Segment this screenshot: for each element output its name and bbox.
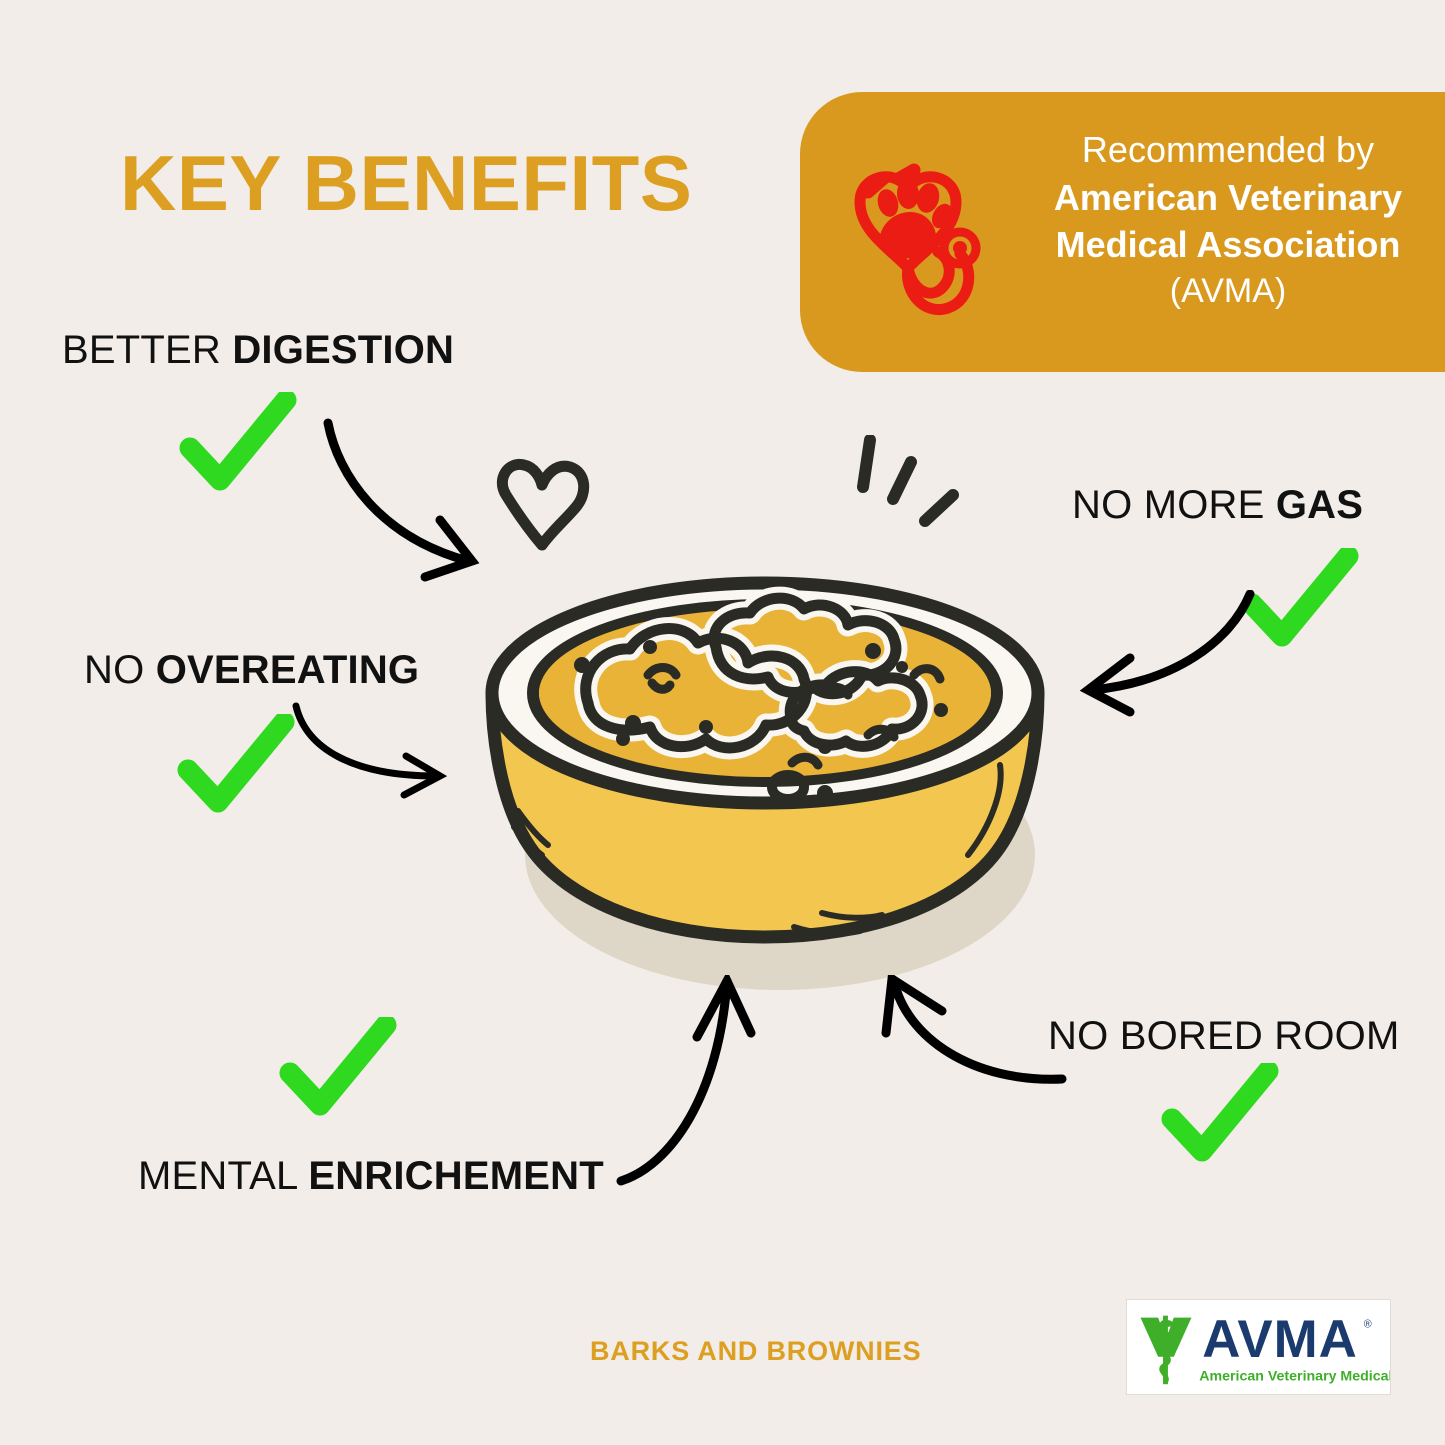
checkmark-icon-bored-room xyxy=(1160,1063,1280,1163)
page-title: KEY BENEFITS xyxy=(120,144,692,222)
benefit-label-enrichment-light: MENTAL xyxy=(138,1154,308,1198)
svg-text:AVMA: AVMA xyxy=(1202,1310,1358,1369)
benefit-label-overeating: NO OVEREATING xyxy=(84,648,419,693)
benefit-label-gas-light: NO MORE xyxy=(1072,483,1276,527)
avma-recommendation-badge: Recommended by American Veterinary Medic… xyxy=(800,92,1445,372)
sparkle-lines xyxy=(863,440,953,521)
checkmark-icon-overeating xyxy=(176,714,296,814)
badge-line-org-2: Medical Association xyxy=(1038,221,1418,269)
benefit-label-bored-room: NO BORED ROOM xyxy=(1048,1014,1400,1059)
benefit-label-digestion-bold: DIGESTION xyxy=(232,328,454,372)
infographic-canvas: KEY BENEFITS xyxy=(0,0,1445,1445)
benefit-label-digestion: BETTER DIGESTION xyxy=(62,328,454,373)
svg-text:®: ® xyxy=(1364,1318,1372,1330)
benefit-label-overeating-bold: OVEREATING xyxy=(156,648,420,692)
benefit-label-overeating-light: NO xyxy=(84,648,156,692)
checkmark-icon-digestion xyxy=(178,392,298,492)
curved-arrow-up-icon xyxy=(615,975,780,1190)
svg-text:American Veterinary Medical As: American Veterinary Medical Association xyxy=(1199,1368,1390,1384)
curved-arrow-up-left-icon xyxy=(880,975,1070,1110)
benefit-label-gas: NO MORE GAS xyxy=(1072,483,1363,528)
checkmark-icon-enrichment xyxy=(278,1017,398,1117)
badge-line-recommended: Recommended by xyxy=(1038,126,1418,174)
benefit-label-enrichment: MENTAL ENRICHEMENT xyxy=(138,1154,604,1199)
benefit-label-bored-room-light: NO BORED ROOM xyxy=(1048,1014,1400,1058)
curved-arrow-down-left-icon xyxy=(1080,590,1270,735)
avma-logo: AVMA ® American Veterinary Medical Assoc… xyxy=(1126,1299,1391,1395)
badge-line-org-1: American Veterinary xyxy=(1038,174,1418,222)
slow-feeder-dog-bowl-illustration xyxy=(470,435,1060,1005)
badge-line-acronym: (AVMA) xyxy=(1038,269,1418,315)
stethoscope-heart-paw-icon xyxy=(838,140,1028,330)
kibble-dot-lower xyxy=(817,785,833,801)
benefit-label-digestion-light: BETTER xyxy=(62,328,232,372)
brand-name: BARKS AND BROWNIES xyxy=(590,1336,921,1367)
benefit-label-enrichment-bold: ENRICHEMENT xyxy=(308,1154,604,1198)
benefit-label-gas-bold: GAS xyxy=(1276,483,1363,527)
badge-text-block: Recommended by American Veterinary Medic… xyxy=(1038,126,1418,314)
curved-arrow-down-right-icon xyxy=(320,415,520,590)
curved-arrow-right-icon xyxy=(290,700,450,800)
